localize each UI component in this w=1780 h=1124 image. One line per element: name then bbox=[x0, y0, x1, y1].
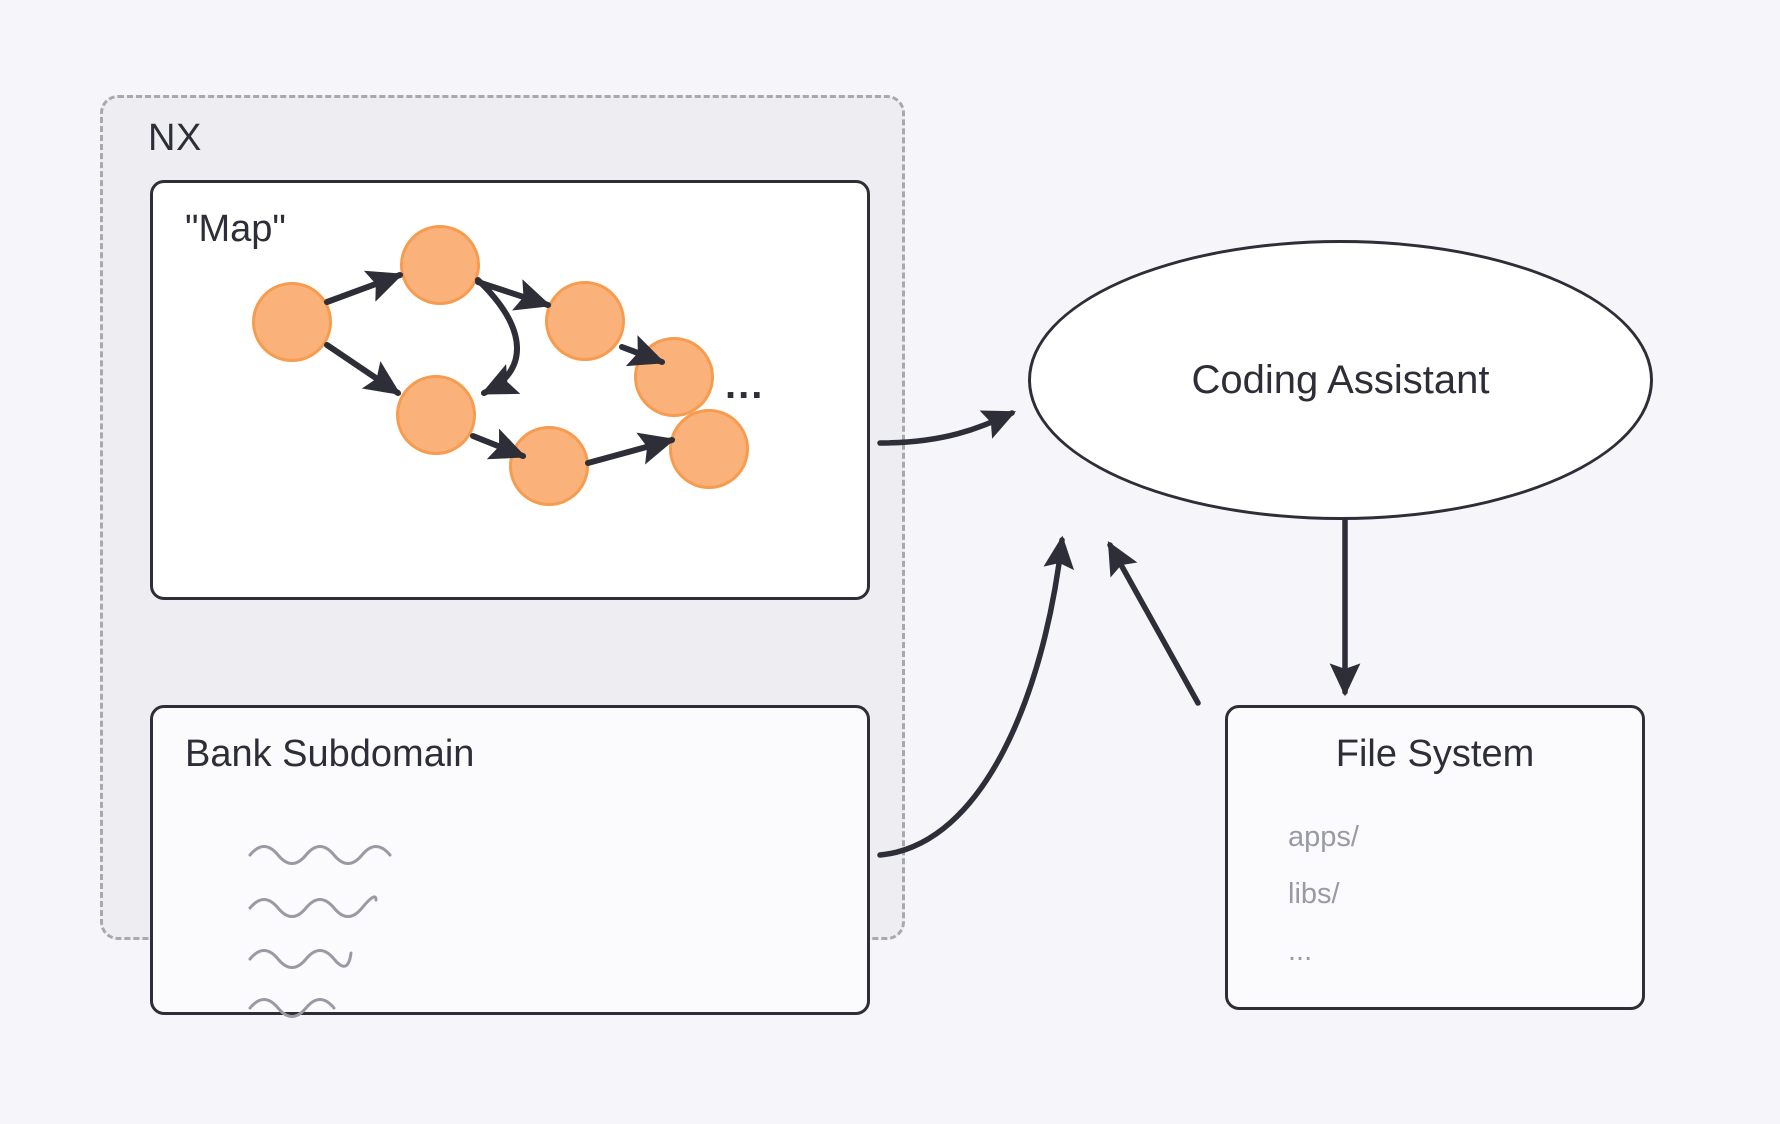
coding-assistant-label: Coding Assistant bbox=[1031, 243, 1650, 517]
graph-node-n1[interactable] bbox=[252, 282, 332, 362]
diagram-canvas: NX "Map" ... Bank Subdomain File System … bbox=[0, 0, 1780, 1124]
bank-subdomain-title: Bank Subdomain bbox=[185, 733, 474, 776]
arrow-bank-to-assistant bbox=[880, 540, 1062, 855]
graph-node-n5[interactable] bbox=[509, 426, 589, 506]
file-system-panel[interactable]: File System apps/ libs/ ... bbox=[1225, 705, 1645, 1010]
file-system-title: File System bbox=[1228, 733, 1642, 776]
file-system-list: apps/ libs/ ... bbox=[1288, 823, 1359, 966]
nx-group-label: NX bbox=[148, 117, 202, 160]
bank-subdomain-panel[interactable]: Bank Subdomain bbox=[150, 705, 870, 1015]
file-system-item-more[interactable]: ... bbox=[1288, 937, 1359, 966]
graph-node-n3[interactable] bbox=[396, 375, 476, 455]
graph-node-n6[interactable] bbox=[634, 337, 714, 417]
graph-node-n7[interactable] bbox=[669, 409, 749, 489]
map-panel-ellipsis: ... bbox=[725, 365, 764, 405]
file-system-item-apps[interactable]: apps/ bbox=[1288, 823, 1359, 852]
arrow-filesystem-to-assistant bbox=[1110, 545, 1198, 703]
graph-node-n4[interactable] bbox=[545, 281, 625, 361]
file-system-item-libs[interactable]: libs/ bbox=[1288, 880, 1359, 909]
graph-node-n2[interactable] bbox=[400, 225, 480, 305]
coding-assistant-node[interactable]: Coding Assistant bbox=[1028, 240, 1653, 520]
map-panel-title: "Map" bbox=[185, 208, 286, 251]
